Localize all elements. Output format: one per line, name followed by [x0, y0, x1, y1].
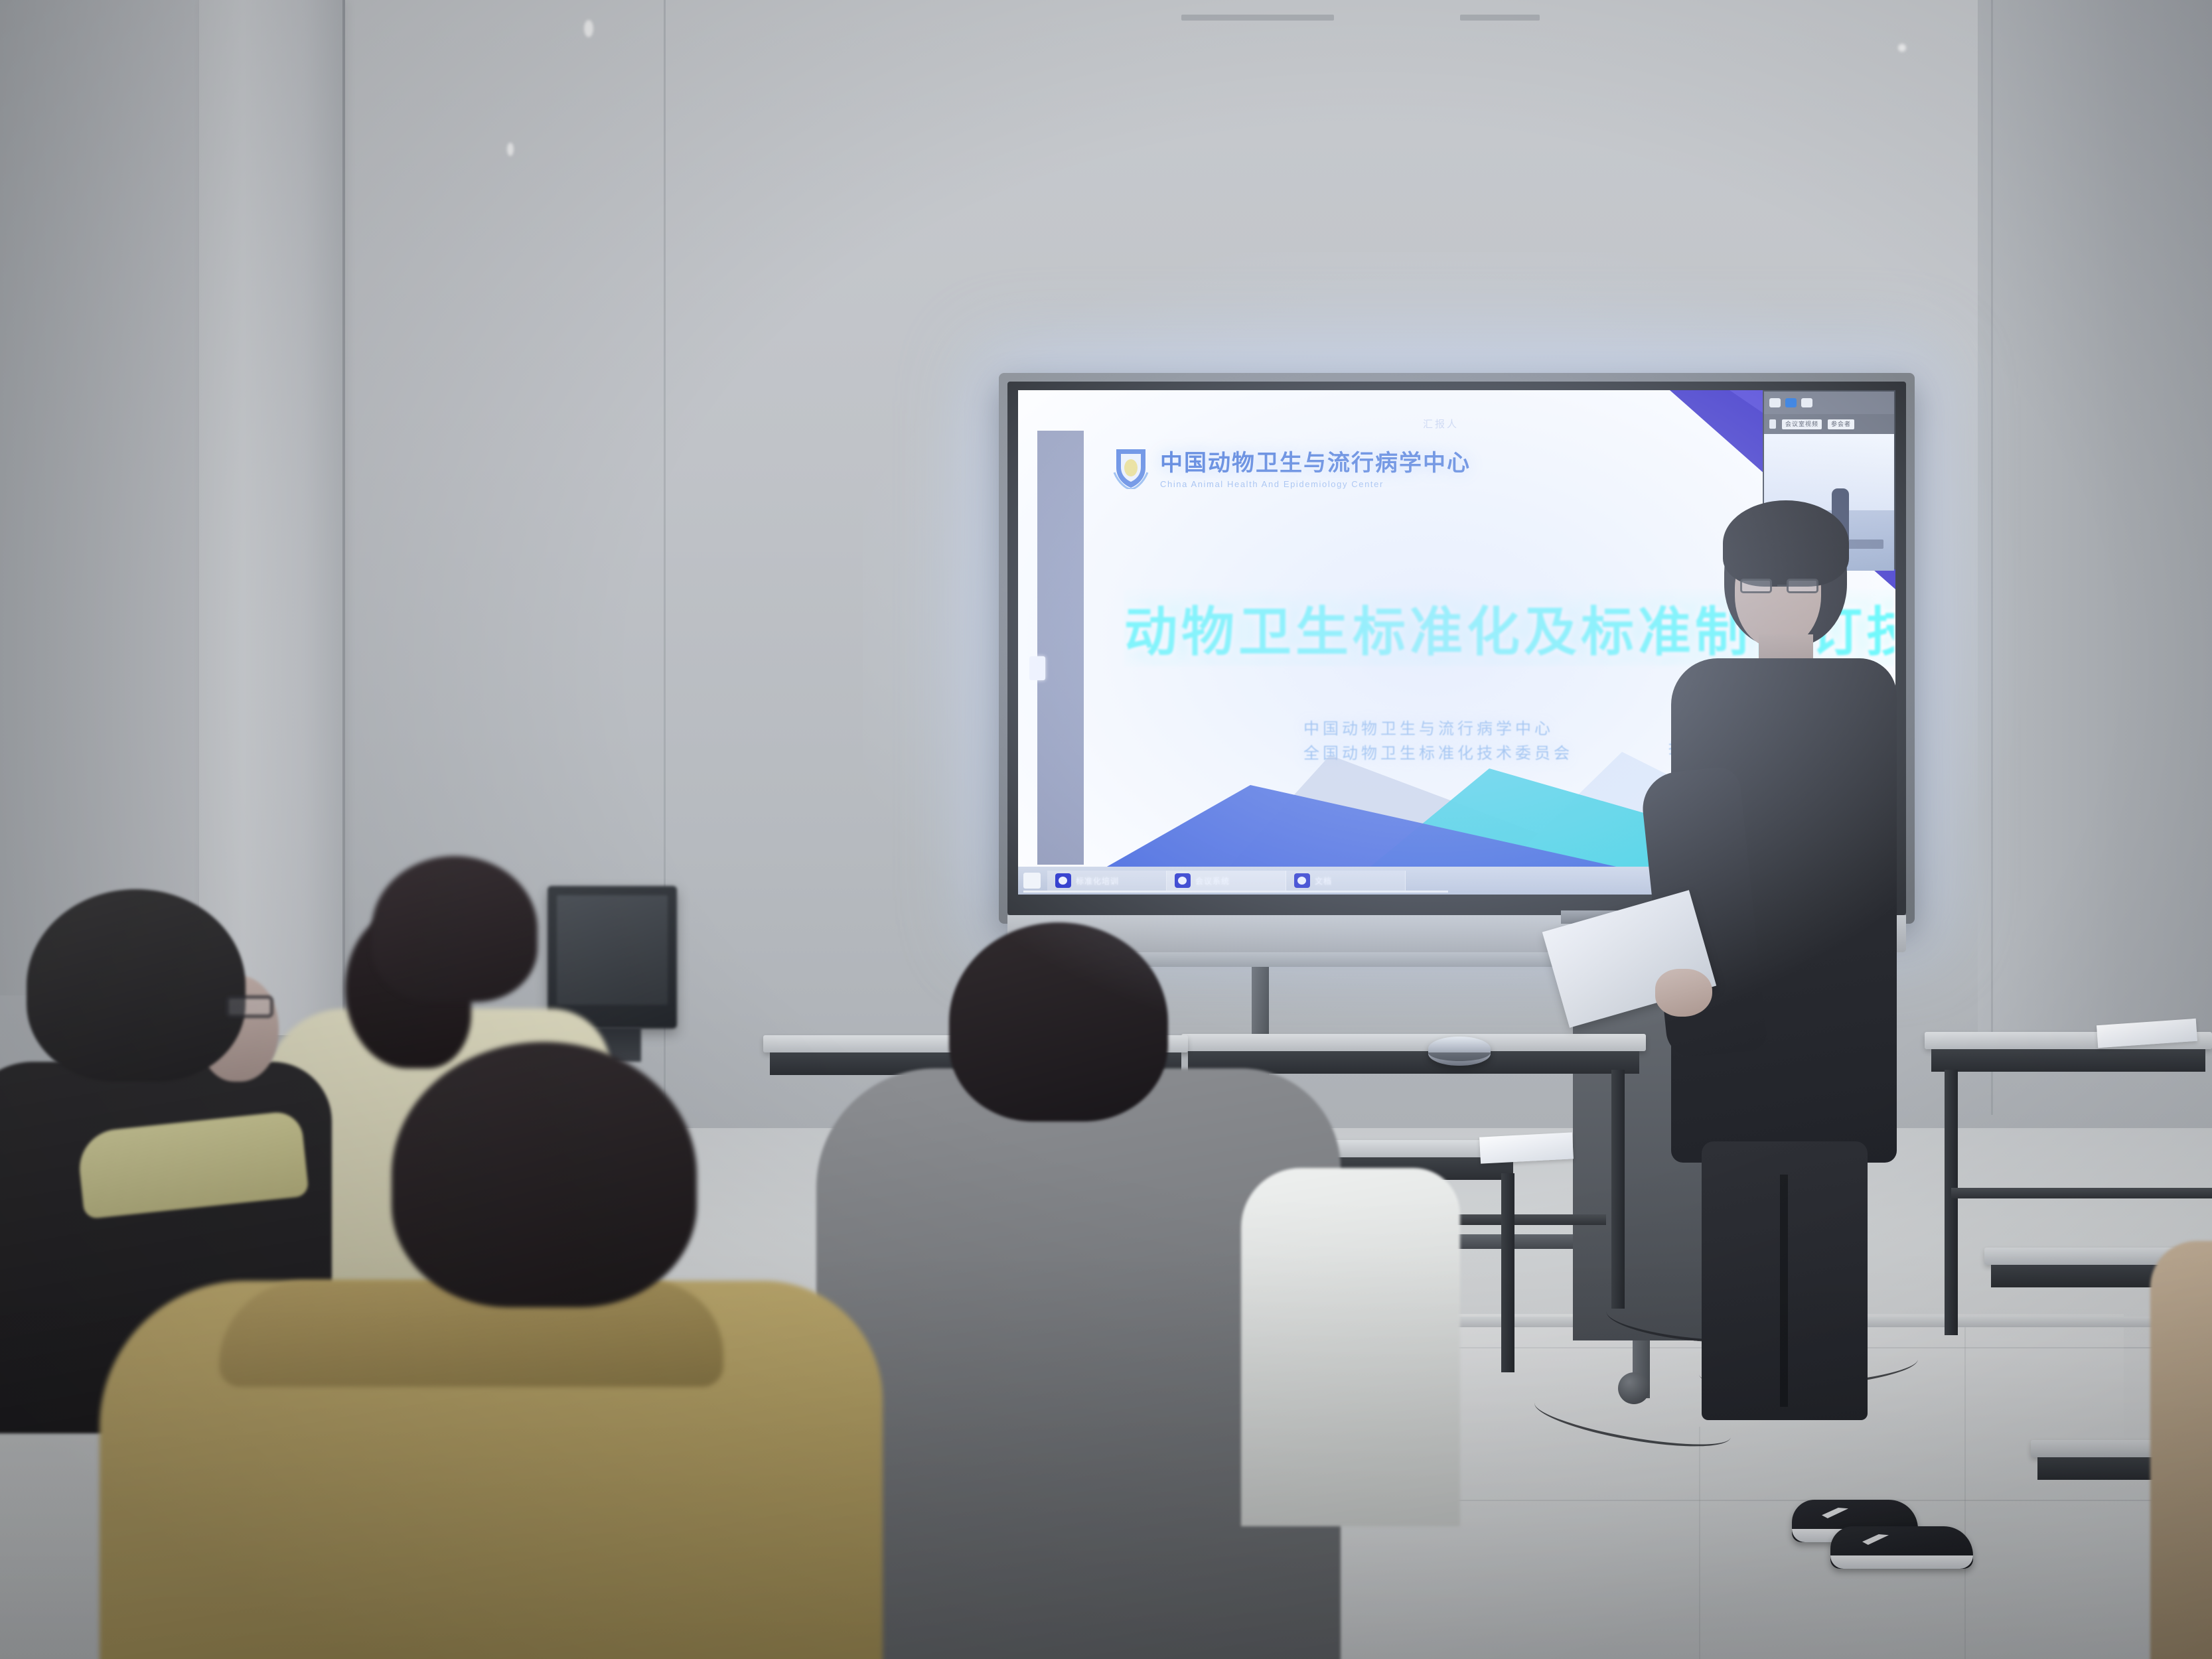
attendee-head — [949, 922, 1168, 1121]
eyeglasses-icon — [1740, 579, 1772, 593]
app-icon — [1175, 873, 1191, 888]
app-icon — [1294, 873, 1310, 888]
classroom-presentation-scene: 汇报人 中国动物卫生与流行病学中心 China Animal Health An… — [0, 0, 2212, 1659]
smartboard-vent — [1181, 15, 1334, 21]
vc-chip-2[interactable]: 参会者 — [1828, 419, 1854, 429]
video-conference-toolbar[interactable] — [1764, 392, 1894, 414]
conference-speakerphone-puck — [1428, 1037, 1491, 1066]
list-item — [2150, 1241, 2212, 1659]
shoe-sole — [1830, 1555, 1973, 1569]
smartboard-vent — [1460, 15, 1540, 21]
presenter-hand — [1655, 969, 1712, 1017]
taskbar-active-underline — [1023, 891, 1448, 893]
start-button[interactable] — [1023, 873, 1041, 889]
taskbar-item-1[interactable]: 会议系统 — [1167, 871, 1286, 891]
status-dot-icon — [1769, 419, 1776, 429]
camera-icon[interactable] — [1785, 398, 1797, 407]
desk-shelf — [1951, 1188, 2212, 1198]
desk-leg — [1501, 1173, 1514, 1372]
taskbar-item-label: 标准化培训 — [1076, 875, 1119, 887]
taskbar-item-label: 会议系统 — [1195, 875, 1230, 887]
wall-right-panel — [1978, 0, 2212, 1035]
slide-logo-row: 中国动物卫生与流行病学中心 China Animal Health And Ep… — [1112, 445, 1471, 489]
shield-crest-icon — [1112, 445, 1149, 489]
presenter-leg-split — [1780, 1175, 1788, 1407]
slide-org-name-cn: 中国动物卫生与流行病学中心 — [1160, 445, 1471, 477]
slide-top-note: 汇报人 — [1423, 417, 1459, 431]
ceiling-light-speck — [1898, 44, 1906, 52]
eyeglasses-icon — [1787, 579, 1818, 593]
app-icon — [1055, 873, 1071, 888]
desk-top — [1181, 1034, 1646, 1051]
wall-seam — [1991, 0, 1993, 1115]
eyeglass-bridge — [1777, 585, 1787, 587]
slide-byline-line-1: 中国动物卫生与流行病学中心 — [1303, 717, 1573, 741]
wall-left-panel — [0, 0, 199, 995]
desk-apron — [1931, 1049, 2205, 1072]
video-conference-subbar[interactable]: 会议室视频 参会者 — [1764, 414, 1894, 434]
slide-sidebar-handle[interactable] — [1029, 656, 1045, 680]
paper-sheet — [1479, 1132, 1574, 1163]
attendee-head — [392, 1042, 697, 1307]
ceiling-light-speck — [584, 20, 593, 37]
attendee-shoulder — [1241, 1168, 1460, 1526]
taskbar-item-label: 文档 — [1315, 875, 1332, 887]
taskbar-item-2[interactable]: 文档 — [1286, 871, 1406, 891]
attendee-head — [372, 856, 538, 1002]
desk-leg — [1945, 1070, 1958, 1335]
column-edge — [342, 0, 345, 1035]
desk-leg — [1611, 1070, 1625, 1309]
desktop-monitor — [548, 886, 677, 1029]
monitor-screen — [557, 895, 668, 1005]
attendee-head — [27, 889, 246, 1082]
layout-icon[interactable] — [1769, 398, 1781, 407]
floor-tile-line — [1964, 1327, 1966, 1659]
presenter-speaker — [1666, 504, 1911, 1500]
presenter-hair — [1723, 500, 1849, 587]
taskbar-item-0[interactable]: 标准化培训 — [1047, 871, 1167, 891]
ceiling-light-speck — [507, 143, 514, 156]
window-icon[interactable] — [1801, 398, 1812, 407]
structural-column — [199, 0, 345, 1035]
eyeglasses-icon — [226, 995, 273, 1018]
slide-org-name-en: China Animal Health And Epidemiology Cen… — [1160, 479, 1471, 489]
vc-chip-1[interactable]: 会议室视频 — [1782, 419, 1822, 429]
